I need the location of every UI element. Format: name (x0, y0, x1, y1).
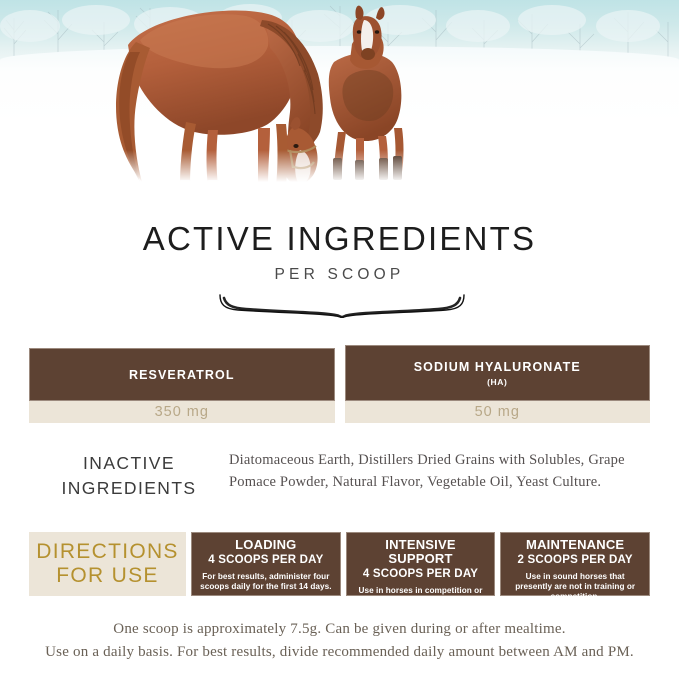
inactive-ingredients-label: INACTIVE INGREDIENTS (29, 449, 229, 502)
directions-for-use-row: DIRECTIONS FOR USE LOADING 4 SCOOPS PER … (29, 532, 650, 596)
page-subtitle: PER SCOOP (0, 266, 679, 284)
directions-card-title: MAINTENANCE (526, 538, 624, 552)
directions-card-note: Use in horses in competition or training… (352, 586, 490, 607)
photo-fade-overlay (0, 150, 679, 190)
page-title: ACTIVE INGREDIENTS (0, 222, 679, 255)
directions-card-dose: 4 SCOOPS PER DAY (208, 554, 323, 567)
directions-for-use-label: DIRECTIONS FOR USE (29, 532, 186, 596)
active-ingredient-header: SODIUM HYALURONATE (HA) (345, 345, 651, 401)
directions-label-line-2: FOR USE (36, 564, 179, 588)
active-ingredient-amount: 50 mg (345, 401, 651, 423)
active-ingredient-card: SODIUM HYALURONATE (HA) 50 mg (345, 345, 651, 423)
title-block: ACTIVE INGREDIENTS PER SCOOP (0, 222, 679, 323)
inactive-ingredients-section: INACTIVE INGREDIENTS Diatomaceous Earth,… (29, 449, 650, 502)
directions-card-intensive-support: INTENSIVE SUPPORT 4 SCOOPS PER DAY Use i… (346, 532, 496, 596)
footer-line-2: Use on a daily basis. For best results, … (40, 641, 639, 664)
active-ingredient-card: RESVERATROL 350 mg (29, 348, 335, 423)
footer-line-1: One scoop is approximately 7.5g. Can be … (40, 618, 639, 641)
active-ingredient-name: SODIUM HYALURONATE (414, 360, 581, 374)
directions-card-dose: 4 SCOOPS PER DAY (363, 568, 478, 581)
hero-photo (0, 0, 679, 190)
directions-card-note: For best results, administer four scoops… (197, 572, 335, 593)
directions-card-note: Use in sound horses that presently are n… (506, 572, 644, 603)
directions-card-maintenance: MAINTENANCE 2 SCOOPS PER DAY Use in soun… (500, 532, 650, 596)
active-ingredient-amount: 350 mg (29, 401, 335, 423)
inactive-label-line-1: INACTIVE (29, 451, 229, 476)
active-ingredient-name: RESVERATROL (129, 368, 235, 382)
directions-card-title: LOADING (235, 538, 296, 552)
directions-card-loading: LOADING 4 SCOOPS PER DAY For best result… (191, 532, 341, 596)
directions-card-dose: 2 SCOOPS PER DAY (518, 554, 633, 567)
inactive-label-line-2: INGREDIENTS (29, 476, 229, 501)
active-ingredient-abbreviation: (HA) (487, 377, 507, 387)
footer-note: One scoop is approximately 7.5g. Can be … (40, 618, 639, 665)
decorative-brace-icon (0, 292, 679, 318)
inactive-ingredients-text: Diatomaceous Earth, Distillers Dried Gra… (229, 449, 650, 494)
directions-card-title: INTENSIVE SUPPORT (352, 538, 490, 567)
active-ingredients-row: RESVERATROL 350 mg SODIUM HYALURONATE (H… (29, 345, 650, 423)
active-ingredient-header: RESVERATROL (29, 348, 335, 401)
directions-label-line-1: DIRECTIONS (36, 540, 179, 564)
